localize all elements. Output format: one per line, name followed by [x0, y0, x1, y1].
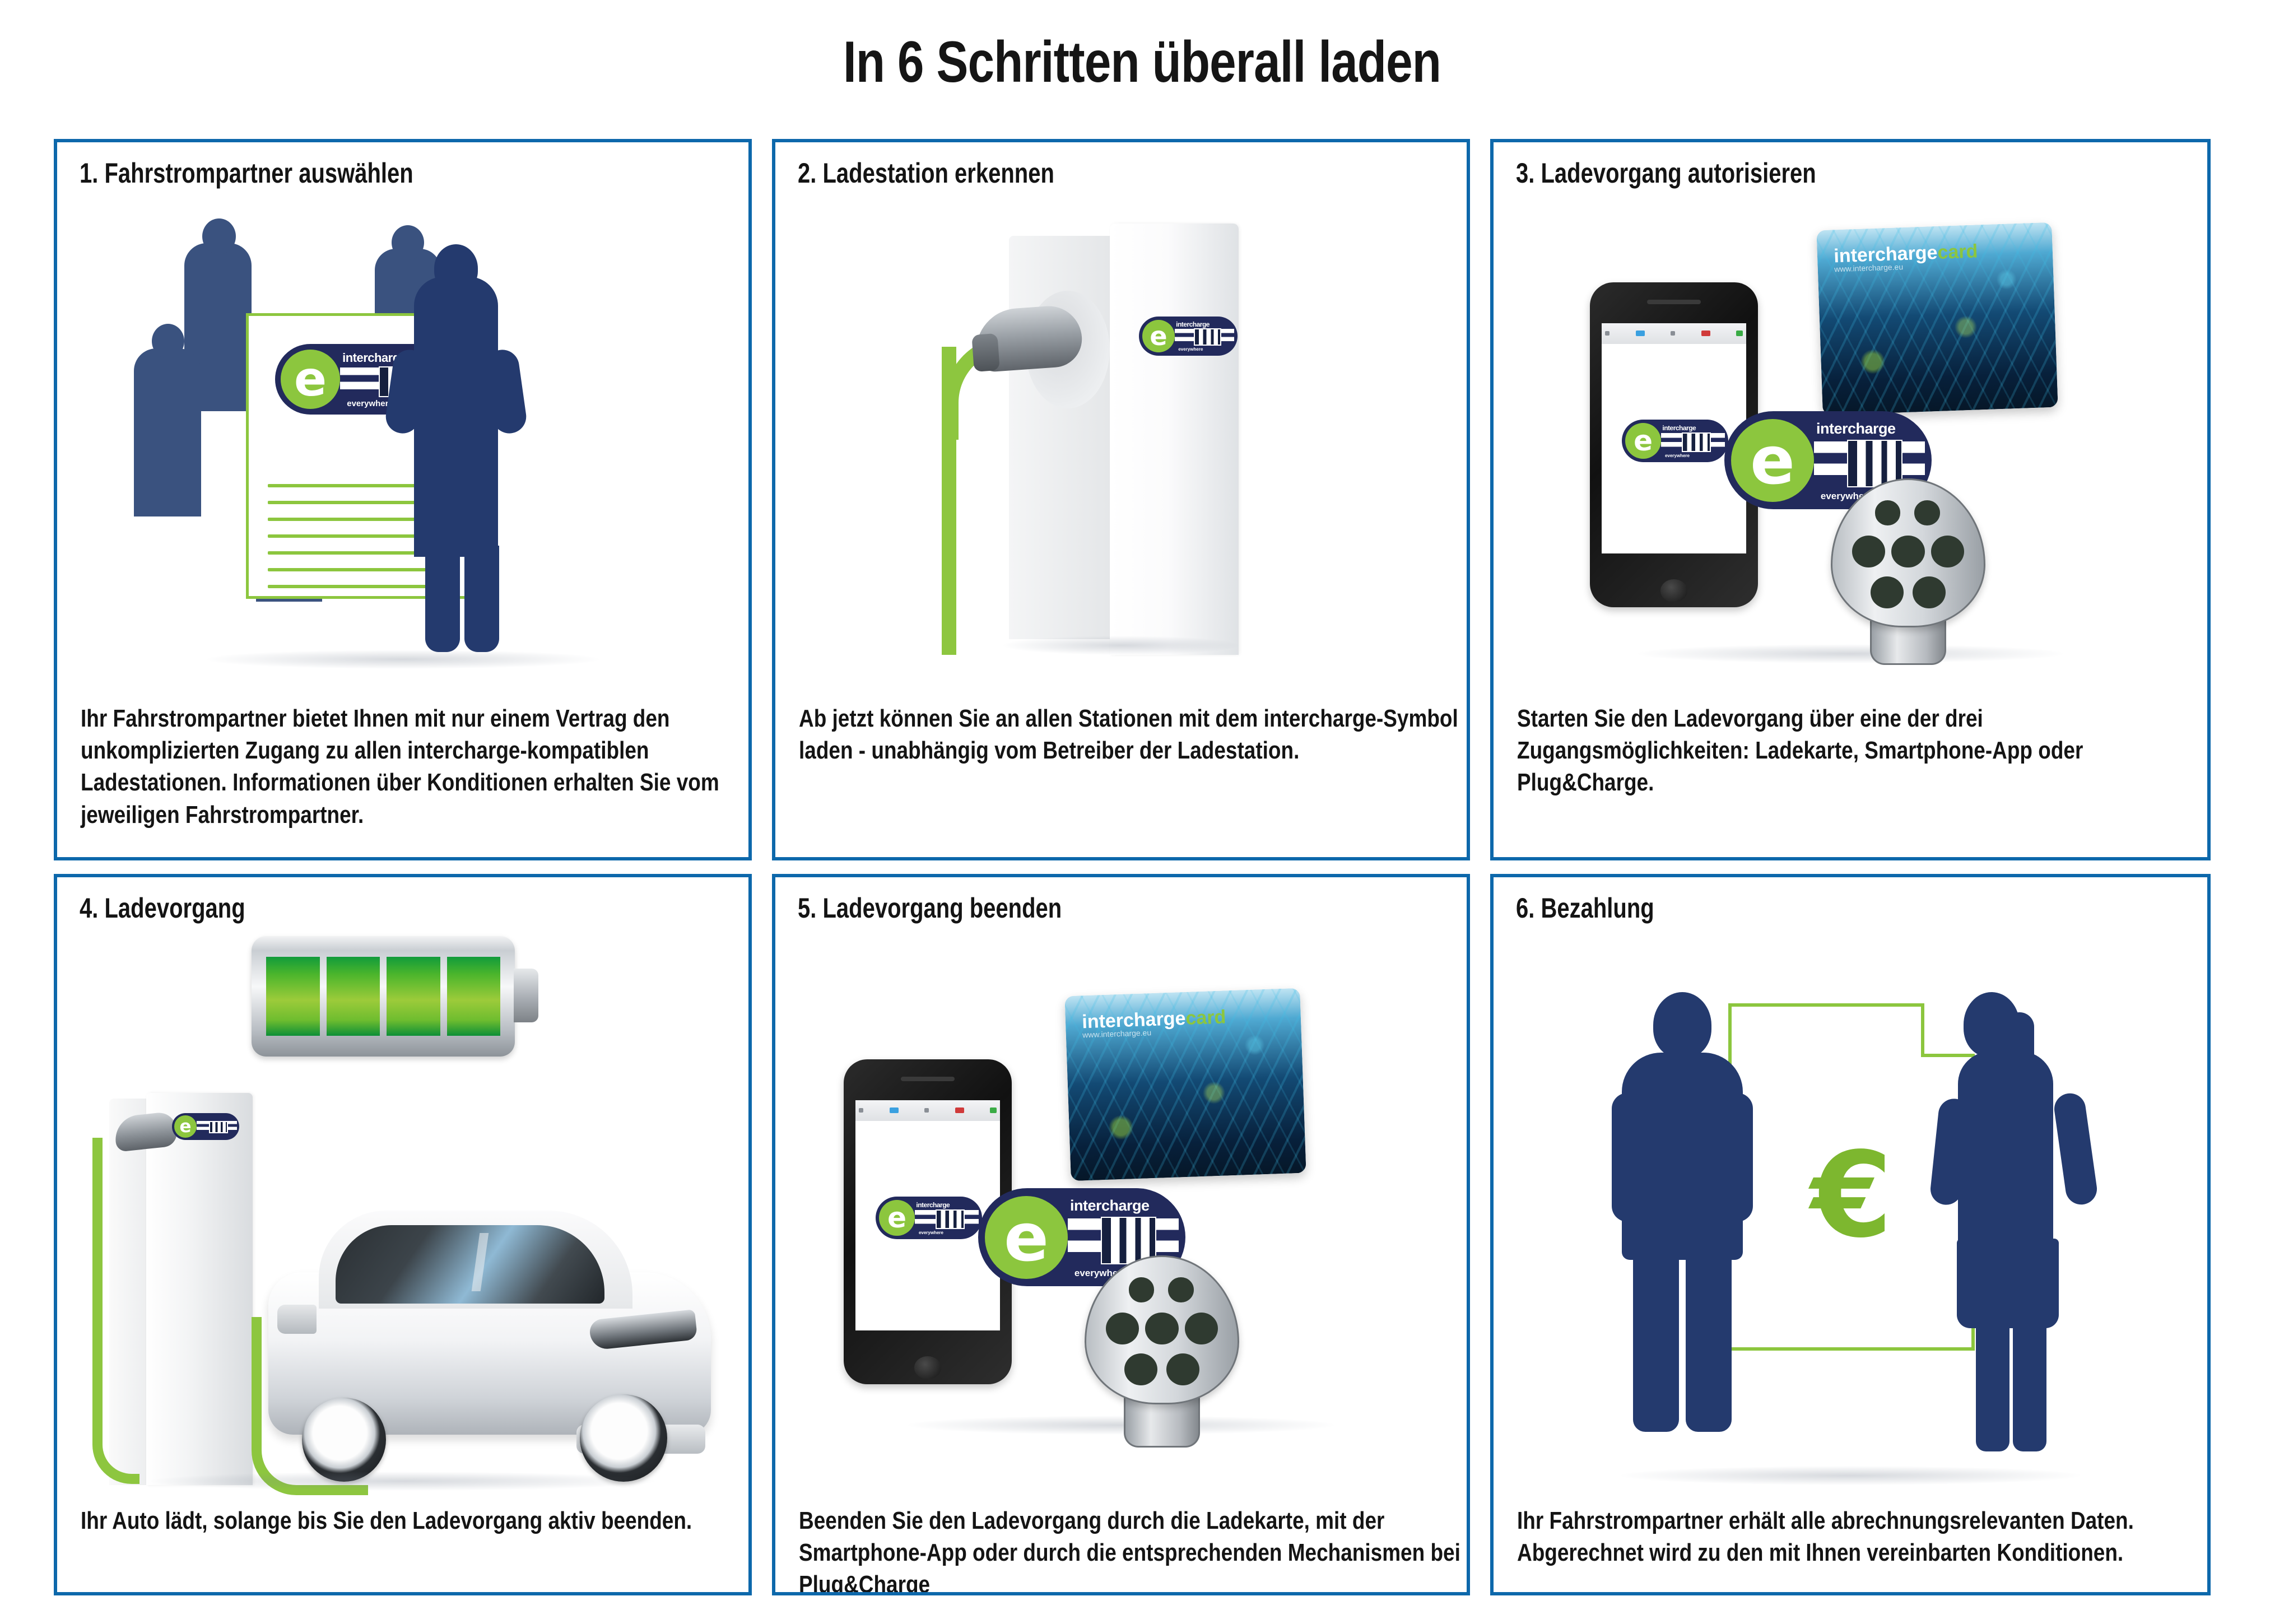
card-wordmark-accent: card — [1937, 240, 1978, 263]
qr-code-icon — [1194, 328, 1221, 346]
connector-pin — [1914, 500, 1940, 525]
step-6-illustration: € — [1494, 928, 2207, 1493]
battery-cell — [447, 957, 501, 1036]
phone-speaker — [1647, 300, 1701, 304]
man-arm — [1719, 1093, 1753, 1222]
page-title: In 6 Schritten überall laden — [206, 29, 2078, 96]
ground-reflection — [1003, 636, 1239, 655]
step-2-illustration: e intercharge everywhere — [775, 198, 1467, 680]
step-1-title: 1. Fahrstrompartner auswählen — [80, 157, 413, 189]
station-front-panel — [1110, 224, 1239, 655]
connector-pin — [1185, 1313, 1218, 1344]
intercharge-e-icon: e — [281, 350, 340, 409]
notification-icon — [955, 1108, 964, 1113]
wifi-icon — [1636, 331, 1645, 336]
card-url: www.intercharge.eu — [1834, 263, 1903, 273]
document-text-lines — [268, 484, 436, 602]
intercharge-tagline: everywhere — [1178, 347, 1203, 352]
step-2-title: 2. Ladestation erkennen — [798, 157, 1054, 189]
charging-pillar — [146, 1093, 253, 1485]
foreground-woman-head — [434, 244, 478, 292]
intercharge-tagline: everywhere — [347, 399, 393, 408]
step-panel-3[interactable]: 3. Ladevorgang autorisieren interchargec… — [1490, 139, 2211, 860]
woman-skirt — [1957, 1239, 2059, 1328]
connector-pin — [1871, 576, 1904, 608]
woman-arm — [2052, 1091, 2099, 1207]
connector-pin — [1891, 536, 1924, 567]
man-leg — [1686, 1247, 1732, 1432]
step-3-title: 3. Ladevorgang autorisieren — [1516, 157, 1816, 189]
step-5-title: 5. Ladevorgang beenden — [798, 892, 1062, 924]
signal-icon — [859, 1108, 863, 1113]
battery-terminal — [514, 969, 538, 1022]
intercharge-wordmark: intercharge — [1662, 425, 1696, 431]
foreground-woman-leg — [425, 546, 460, 652]
authorisation-methods-graphic: interchargecard www.intercharge.eu — [1556, 215, 2145, 663]
battery-cell — [266, 957, 320, 1036]
charging-nozzle-icon — [973, 304, 1083, 373]
man-leg — [1633, 1247, 1679, 1432]
connector-pin — [1166, 1353, 1199, 1385]
intercharge-logo-detail: intercharge everywhere — [1175, 320, 1234, 352]
battery-cell — [387, 957, 440, 1036]
connector-pin — [1168, 1277, 1194, 1302]
intercharge-e-icon: e — [1142, 320, 1175, 352]
phone-screen: e intercharge everywhere — [1602, 323, 1746, 554]
intercharge-logo-detail — [197, 1115, 237, 1138]
card-wordmark-accent: card — [1185, 1006, 1226, 1029]
qr-code-icon — [209, 1121, 229, 1133]
man-silhouette — [1610, 992, 1755, 1440]
clock-icon — [1671, 331, 1675, 336]
people-with-contract-graphic: e intercharge everywhere — [78, 210, 728, 669]
wifi-icon — [890, 1108, 899, 1113]
intercharge-logo-icon: e intercharge everywhere — [1139, 317, 1238, 356]
step-5-body: Beenden Sie den Ladevorgang durch die La… — [799, 1505, 1467, 1595]
step-3-body: Starten Sie den Ladevorgang über eine de… — [1517, 702, 2185, 799]
ground-reflection — [207, 650, 599, 669]
phone-screen: e intercharge everywhere — [855, 1100, 1000, 1331]
car-wheel — [580, 1394, 667, 1482]
intercharge-e-icon: e — [1625, 423, 1661, 459]
ground-reflection — [151, 1472, 655, 1491]
notification-icon — [1701, 331, 1710, 336]
woman-leg — [2013, 1320, 2046, 1451]
intercharge-tagline: everywhere — [919, 1231, 943, 1235]
ground-reflection — [1638, 644, 2063, 663]
card-url: www.intercharge.eu — [1082, 1029, 1151, 1039]
phone-speaker — [901, 1077, 955, 1081]
step-1-illustration: e intercharge everywhere — [57, 198, 748, 680]
battery-icon — [1736, 331, 1743, 336]
intercharge-logo-detail: intercharge everywhere — [915, 1200, 979, 1236]
intercharge-logo-icon: e intercharge everywhere — [876, 1197, 982, 1239]
charging-cable — [942, 347, 1024, 655]
woman-leg — [1976, 1320, 2009, 1451]
connector-pin — [1931, 536, 1964, 567]
step-panel-5[interactable]: 5. Ladevorgang beenden interchargecard w… — [772, 874, 1470, 1595]
intercharge-card: interchargecard www.intercharge.eu — [1816, 222, 2058, 415]
step-2-body: Ab jetzt können Sie an allen Stationen m… — [799, 702, 1467, 766]
ground-reflection — [1621, 1466, 2080, 1485]
phone-status-bar — [1602, 323, 1746, 344]
step-panel-2[interactable]: 2. Ladestation erkennen e intercharge — [772, 139, 1470, 860]
step-panel-6[interactable]: 6. Bezahlung € — [1490, 874, 2211, 1595]
intercharge-wordmark: intercharge — [1070, 1198, 1150, 1213]
step-4-title: 4. Ladevorgang — [80, 892, 245, 924]
intercharge-wordmark: intercharge — [1816, 421, 1896, 436]
background-person-silhouette — [134, 348, 201, 516]
car-windows — [336, 1225, 604, 1304]
phone-home-button — [914, 1356, 941, 1379]
intercharge-tagline: everywhere — [1665, 454, 1690, 458]
battery-cell — [327, 957, 380, 1036]
connector-pin — [1124, 1353, 1157, 1385]
step-4-body: Ihr Auto lädt, solange bis Sie den Ladev… — [81, 1505, 749, 1537]
step-6-title: 6. Bezahlung — [1516, 892, 1654, 924]
ground-reflection — [908, 1416, 1334, 1435]
step-panel-4[interactable]: 4. Ladevorgang e — [54, 874, 752, 1595]
intercharge-e-icon: e — [879, 1200, 915, 1236]
woman-silhouette — [1934, 992, 2091, 1451]
foreground-woman-leg — [464, 546, 499, 652]
infographic-page: In 6 Schritten überall laden 1. Fahrstro… — [0, 0, 2284, 1624]
battery-icon — [252, 936, 515, 1057]
connector-pin — [1106, 1313, 1139, 1344]
intercharge-e-icon: e — [985, 1196, 1068, 1279]
steps-grid: 1. Fahrstrompartner auswählen — [54, 139, 2232, 1595]
background-person-head — [202, 218, 236, 254]
connector-pin — [1875, 500, 1901, 525]
intercharge-logo-icon: e — [172, 1113, 239, 1140]
clock-icon — [924, 1108, 929, 1113]
step-4-illustration: e — [57, 928, 748, 1493]
step-6-body: Ihr Fahrstrompartner erhält alle abrechn… — [1517, 1505, 2185, 1569]
card-wordmark: interchargecard — [1834, 241, 1978, 266]
charging-cable — [92, 1138, 139, 1484]
foreground-woman-silhouette — [414, 277, 498, 557]
step-1-body: Ihr Fahrstrompartner bietet Ihnen mit nu… — [81, 702, 749, 831]
stop-charging-methods-graphic: interchargecard www.intercharge.eu — [827, 987, 1415, 1435]
man-arm — [1612, 1093, 1645, 1222]
connector-pin — [1913, 576, 1946, 608]
man-head — [1653, 992, 1711, 1058]
phone-home-button — [1660, 579, 1687, 602]
intercharge-wordmark: intercharge — [1176, 321, 1210, 328]
payment-graphic: € — [1565, 936, 2136, 1485]
woman-torso — [1958, 1051, 2053, 1264]
battery-icon — [990, 1108, 997, 1113]
background-person-head — [392, 225, 424, 260]
intercharge-wordmark: intercharge — [916, 1202, 950, 1208]
step-panel-1[interactable]: 1. Fahrstrompartner auswählen — [54, 139, 752, 860]
signal-icon — [1605, 331, 1610, 336]
intercharge-logo-detail: intercharge everywhere — [1661, 423, 1725, 459]
intercharge-e-icon: e — [174, 1115, 197, 1138]
background-person-head — [152, 324, 184, 359]
step-3-illustration: interchargecard www.intercharge.eu — [1494, 198, 2207, 680]
step-5-illustration: interchargecard www.intercharge.eu — [775, 928, 1467, 1493]
card-wordmark: interchargecard — [1082, 1007, 1226, 1031]
phone-status-bar — [855, 1100, 1000, 1121]
charging-station-graphic: e intercharge everywhere — [942, 224, 1300, 655]
intercharge-card: interchargecard www.intercharge.eu — [1064, 988, 1306, 1181]
intercharge-logo-icon: e intercharge everywhere — [1622, 420, 1728, 462]
qr-code-icon — [936, 1209, 965, 1229]
intercharge-e-icon: e — [1731, 419, 1814, 502]
charging-cable-to-car — [252, 1317, 368, 1495]
car-charging-graphic: e — [83, 930, 722, 1491]
connector-pin — [1145, 1313, 1178, 1344]
connector-pin — [1129, 1277, 1155, 1302]
qr-code-icon — [1682, 432, 1711, 452]
connector-pin — [1852, 536, 1885, 567]
